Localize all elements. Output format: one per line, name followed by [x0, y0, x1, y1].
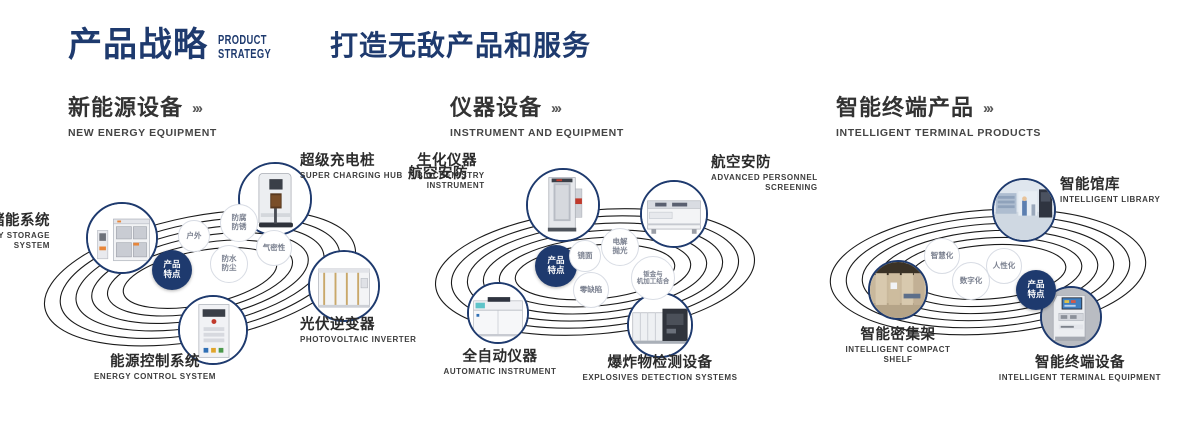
caption-cn: 智能馆库: [1060, 178, 1160, 193]
biochemistry-instrument-photo: [528, 170, 598, 240]
caption-cn: 智能终端设备: [960, 356, 1200, 371]
caption-cn: 爆炸物检测设备: [545, 356, 775, 371]
feature-zero-defect[interactable]: 零缺陷: [573, 272, 609, 308]
caption-intelligent-compact-shelf: 智能密集架 INTELLIGENT COMPACT SHELF: [818, 328, 978, 364]
caption-en: EXPLOSIVES DETECTION SYSTEMS: [545, 373, 775, 383]
battery-cabinet-photo: [88, 204, 156, 272]
node-automatic-instrument[interactable]: [467, 282, 529, 344]
section-heading-cn: 智能终端产品›››: [836, 97, 1041, 119]
explosives-detector-photo: [629, 294, 691, 356]
caption-aviation-security-left: 航空安防: [408, 167, 468, 182]
caption-en: INTELLIGENT TERMINAL EQUIPMENT: [960, 373, 1200, 383]
caption-cn: 超级充电桩: [300, 154, 403, 169]
feature-label: 气密性: [263, 244, 286, 253]
compact-shelf-photo: [870, 262, 926, 318]
feature-electropolishing[interactable]: 电解 抛光: [601, 228, 639, 266]
node-intelligent-compact-shelf[interactable]: [868, 260, 928, 320]
feature-label-line1: 钣金与: [643, 271, 663, 278]
page-title-english-line2: STRATEGY: [218, 47, 283, 61]
caption-energy-control-system: 能源控制系统 ENERGY CONTROL SYSTEM: [40, 355, 270, 382]
node-intelligent-library[interactable]: [992, 178, 1056, 242]
feature-intelligent[interactable]: 智慧化: [924, 238, 960, 274]
feature-label: 防水 防尘: [222, 255, 237, 272]
feature-humanized[interactable]: 人性化: [986, 248, 1022, 284]
feature-outdoor[interactable]: 户外: [178, 220, 210, 252]
cluster-instrument-and-equipment: 生化仪器 BIOCHEMISTRY INSTRUMENT 航空安防 航空安防 A…: [395, 150, 795, 410]
section-heading-intelligent-terminal: 智能终端产品››› INTELLIGENT TERMINAL PRODUCTS: [836, 97, 1041, 139]
feature-waterproof-dustproof[interactable]: 防水 防尘: [210, 245, 248, 283]
feature-mirror-finish[interactable]: 镜面: [569, 240, 601, 272]
caption-cn: 航空安防: [408, 167, 468, 182]
caption-explosives-detection-systems: 爆炸物检测设备 EXPLOSIVES DETECTION SYSTEMS: [545, 356, 775, 383]
chevron-right-icon: ›››: [551, 101, 560, 116]
section-heading-en: NEW ENERGY EQUIPMENT: [68, 127, 217, 139]
caption-cn: 储能系统: [0, 214, 50, 229]
page-subtitle: 打造无敌产品和服务: [330, 32, 591, 60]
caption-energy-storage-system: 储能系统 ENERGY STORAGE SYSTEM: [0, 214, 50, 250]
feature-digital[interactable]: 数字化: [952, 262, 990, 300]
section-heading-en: INSTRUMENT AND EQUIPMENT: [450, 127, 624, 139]
section-heading-en: INTELLIGENT TERMINAL PRODUCTS: [836, 127, 1041, 139]
intelligent-library-photo: [994, 180, 1054, 240]
automatic-instrument-photo: [469, 284, 527, 342]
section-heading-cn: 仪器设备›››: [450, 97, 624, 119]
feature-label: 产品特点: [1027, 280, 1044, 300]
caption-en: INTELLIGENT COMPACT SHELF: [818, 345, 978, 364]
section-heading-cn: 新能源设备›››: [68, 97, 217, 119]
feature-label-line2: 防尘: [222, 263, 237, 272]
caption-en: SUPER CHARGING HUB: [300, 171, 403, 181]
cluster-intelligent-terminal-products: 智能馆库 INTELLIGENT LIBRARY 智能密集架 INTELLIGE…: [790, 150, 1190, 410]
feature-label: 智慧化: [931, 252, 954, 261]
section-heading-cn-text: 新能源设备: [68, 95, 183, 120]
feature-label: 钣金与 机加工结合: [637, 271, 670, 286]
page-title-english: PRODUCT STRATEGY: [218, 33, 283, 60]
feature-label-line2: 防锈: [232, 222, 247, 231]
page-title-english-line1: PRODUCT: [218, 33, 283, 47]
cluster-new-energy-equipment: 储能系统 ENERGY STORAGE SYSTEM 超级充电桩 SUPER C…: [0, 150, 400, 410]
caption-super-charging-hub: 超级充电桩 SUPER CHARGING HUB: [300, 154, 403, 181]
caption-en: INTELLIGENT LIBRARY: [1060, 195, 1160, 205]
section-heading-cn-text: 智能终端产品: [836, 95, 974, 120]
section-heading-instrument: 仪器设备››› INSTRUMENT AND EQUIPMENT: [450, 97, 624, 139]
chevron-right-icon: ›››: [983, 101, 992, 116]
caption-en-line2: SYSTEM: [0, 241, 50, 251]
feature-core-product-features[interactable]: 产品特点: [1016, 270, 1056, 310]
node-explosives-detection-systems[interactable]: [627, 292, 693, 358]
caption-intelligent-terminal-equipment: 智能终端设备 INTELLIGENT TERMINAL EQUIPMENT: [960, 356, 1200, 383]
pv-inverter-photo: [310, 252, 378, 320]
caption-intelligent-library: 智能馆库 INTELLIGENT LIBRARY: [1060, 178, 1160, 205]
caption-en-line1: INTELLIGENT COMPACT: [818, 345, 978, 355]
feature-label: 零缺陷: [580, 286, 603, 295]
chevron-right-icon: ›››: [192, 101, 201, 116]
feature-core-text: 产品特点: [1027, 279, 1044, 299]
feature-label: 人性化: [993, 262, 1016, 271]
feature-label-line2: 机加工结合: [637, 278, 670, 285]
node-photovoltaic-inverter[interactable]: [308, 250, 380, 322]
node-energy-storage-system[interactable]: [86, 202, 158, 274]
caption-cn: 能源控制系统: [40, 355, 270, 370]
caption-en-line2: INSTRUMENT: [417, 181, 485, 191]
feature-anticorrosion[interactable]: 防腐 防锈: [220, 204, 258, 242]
feature-core-text: 产品特点: [547, 255, 564, 275]
feature-label: 产品特点: [163, 260, 180, 280]
caption-cn: 智能密集架: [818, 328, 978, 343]
screening-machine-photo: [642, 182, 706, 246]
feature-label: 户外: [187, 232, 202, 241]
feature-label-line2: 抛光: [613, 246, 628, 255]
feature-label: 产品特点: [547, 256, 564, 276]
section-heading-new-energy: 新能源设备››› NEW ENERGY EQUIPMENT: [68, 97, 217, 139]
node-biochemistry-instrument[interactable]: [526, 168, 600, 242]
page-header: 产品战略 PRODUCT STRATEGY 打造无敌产品和服务: [0, 0, 1200, 88]
caption-en-line2: SHELF: [818, 355, 978, 365]
feature-core-product-features[interactable]: 产品特点: [152, 250, 192, 290]
page-title: 产品战略: [68, 28, 208, 62]
caption-en: ENERGY CONTROL SYSTEM: [40, 372, 270, 382]
caption-en: ENERGY STORAGE SYSTEM: [0, 231, 50, 250]
caption-en-line1: ENERGY STORAGE: [0, 231, 50, 241]
feature-airtightness[interactable]: 气密性: [256, 230, 292, 266]
feature-sheet-metal-machining[interactable]: 钣金与 机加工结合: [631, 256, 675, 300]
section-heading-cn-text: 仪器设备: [450, 95, 542, 120]
feature-label: 防腐 防锈: [232, 214, 247, 231]
feature-core-text: 产品特点: [163, 259, 180, 279]
node-advanced-personnel-screening[interactable]: [640, 180, 708, 248]
feature-label: 数字化: [960, 277, 983, 286]
feature-label: 电解 抛光: [613, 238, 628, 255]
feature-label: 镜面: [578, 252, 593, 261]
